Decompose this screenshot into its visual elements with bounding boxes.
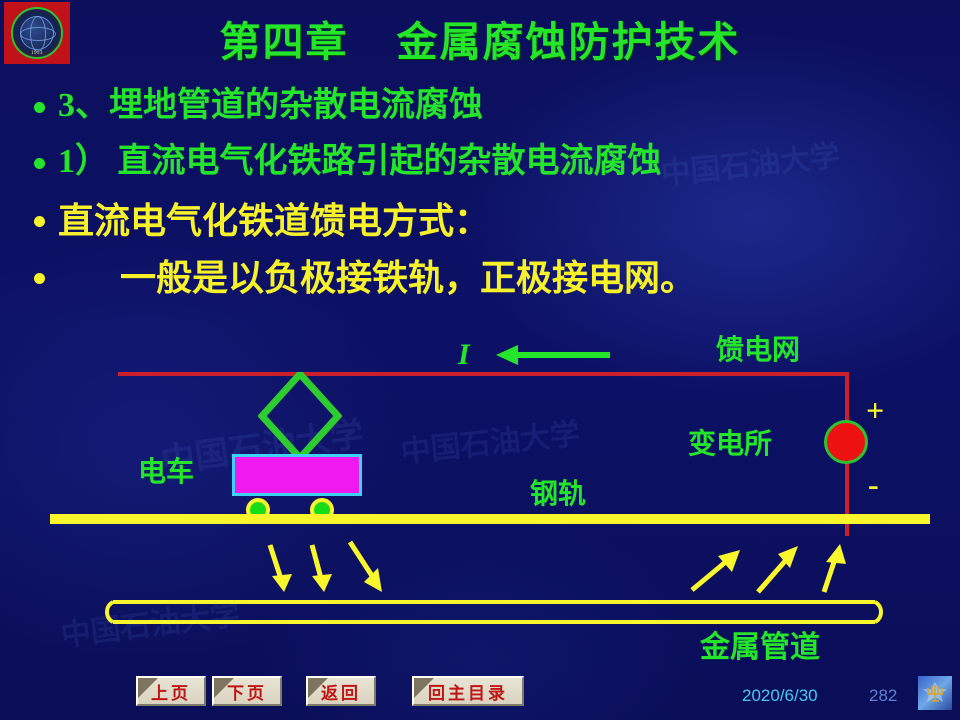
prev-page-button[interactable]: 上页 [136,676,206,706]
substation-node-icon [824,420,868,464]
bullet-item-2: 1） 直流电气化铁路引起的杂散电流腐蚀 [34,140,934,184]
bullet-text-3: 直流电气化铁道馈电方式： [58,198,490,244]
bullet-dot-icon [34,273,45,284]
main-menu-button[interactable]: 回主目录 [412,676,524,706]
steel-rail-line [50,514,930,524]
bullet-dot-icon [34,158,45,169]
stray-current-arrow-down-icon [260,542,300,594]
bullet-dot-icon [34,216,45,227]
steel-rail-label: 钢轨 [530,472,586,512]
next-page-button[interactable]: 下页 [212,676,282,706]
current-direction-arrow-icon [492,342,610,368]
bullet-text-1: 3、埋地管道的杂散电流腐蚀 [58,84,483,128]
footer-bar: 上页 下页 返回 回主目录 2020/6/30 282 [0,672,960,720]
polarity-plus-label: + [866,394,884,426]
menorah-icon[interactable] [918,676,952,710]
bullet-text-4: 一般是以负极接铁轨，正极接电网。 [58,255,696,301]
tram-body [232,454,362,496]
bullet-item-3: 直流电气化铁道馈电方式： [34,198,934,244]
slide-canvas: 中国石油大学 中国石油大学 中国石油大学 中国石油大学 1953 第四章金属腐蚀… [0,0,960,720]
bullet-text-2: 1） 直流电气化铁路引起的杂散电流腐蚀 [58,140,662,184]
metal-pipeline-label: 金属管道 [700,622,820,666]
back-label: 返回 [321,679,361,704]
next-page-label: 下页 [227,679,267,704]
polarity-minus-label: - [868,468,879,500]
substation-label: 变电所 [688,422,772,462]
feed-line [118,372,848,376]
footer-page-number: 282 [869,686,897,706]
tram-label: 电车 [138,450,194,490]
pantograph-icon [258,372,342,460]
stray-current-diagram: I 馈电网 变电所 + - 电车 钢轨 [0,310,960,670]
main-menu-label: 回主目录 [428,679,508,704]
current-symbol-label: I [458,338,470,372]
menorah-glyph [922,680,948,706]
stray-current-arrow-up-icon [752,542,804,596]
page-title: 第四章金属腐蚀防护技术 [0,8,960,68]
back-button[interactable]: 返回 [306,676,376,706]
title-chapter: 第四章 [220,19,349,65]
footer-date: 2020/6/30 [742,686,818,706]
prev-page-label: 上页 [151,679,191,704]
stray-current-arrow-up-icon [688,546,744,596]
stray-current-arrow-down-icon [344,538,392,596]
bullet-item-1: 3、埋地管道的杂散电流腐蚀 [34,84,934,128]
stray-current-arrow-down-icon [302,542,342,594]
feed-network-label: 馈电网 [716,328,800,368]
bullet-dot-icon [34,102,45,113]
bullet-item-4: 一般是以负极接铁轨，正极接电网。 [34,255,934,301]
stray-current-arrow-up-icon [812,540,852,596]
title-subject: 金属腐蚀防护技术 [397,19,741,65]
